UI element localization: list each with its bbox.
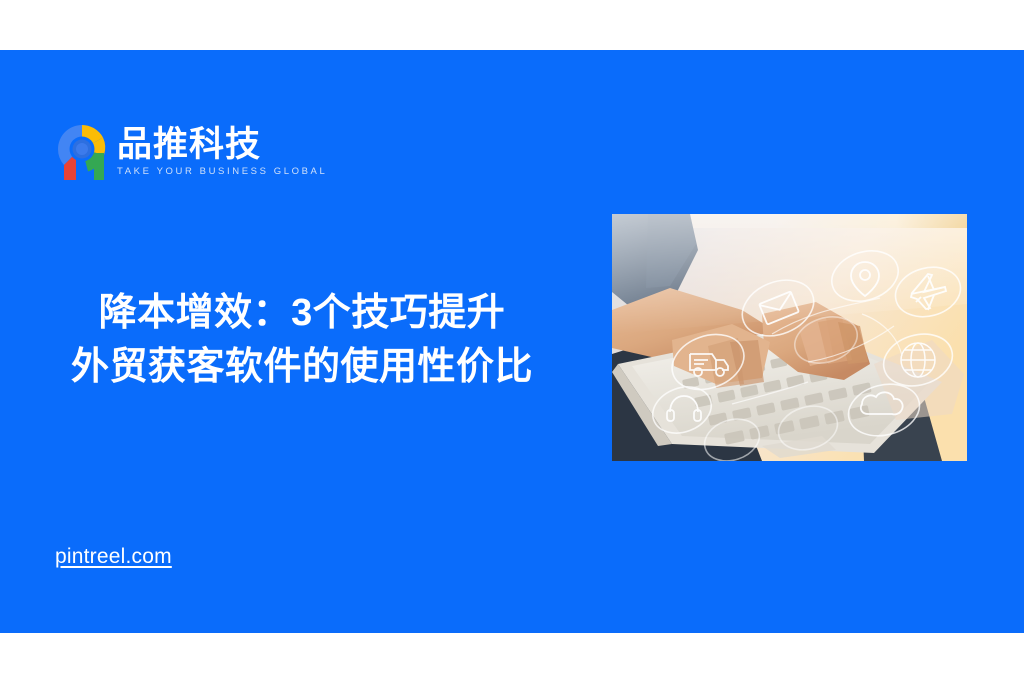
pintreel-color-wheel-logo-icon [55, 122, 109, 182]
brand-logo[interactable]: 品推科技 TAKE YOUR BUSINESS GLOBAL [55, 122, 327, 182]
hero-photo-illustration [612, 214, 967, 461]
headline: 降本增效：3个技巧提升 外贸获客软件的使用性价比 [28, 286, 576, 394]
headline-line-1: 降本增效：3个技巧提升 [28, 286, 576, 340]
site-url-link[interactable]: pintreel.com [55, 544, 172, 570]
headline-line-2: 外贸获客软件的使用性价比 [28, 340, 576, 394]
slide-canvas: 品推科技 TAKE YOUR BUSINESS GLOBAL 降本增效：3个技巧… [0, 0, 1024, 683]
brand-tagline: TAKE YOUR BUSINESS GLOBAL [117, 166, 327, 178]
hero-photo [612, 214, 967, 461]
brand-name-cn: 品推科技 [117, 126, 327, 164]
brand-logo-text: 品推科技 TAKE YOUR BUSINESS GLOBAL [117, 122, 327, 178]
